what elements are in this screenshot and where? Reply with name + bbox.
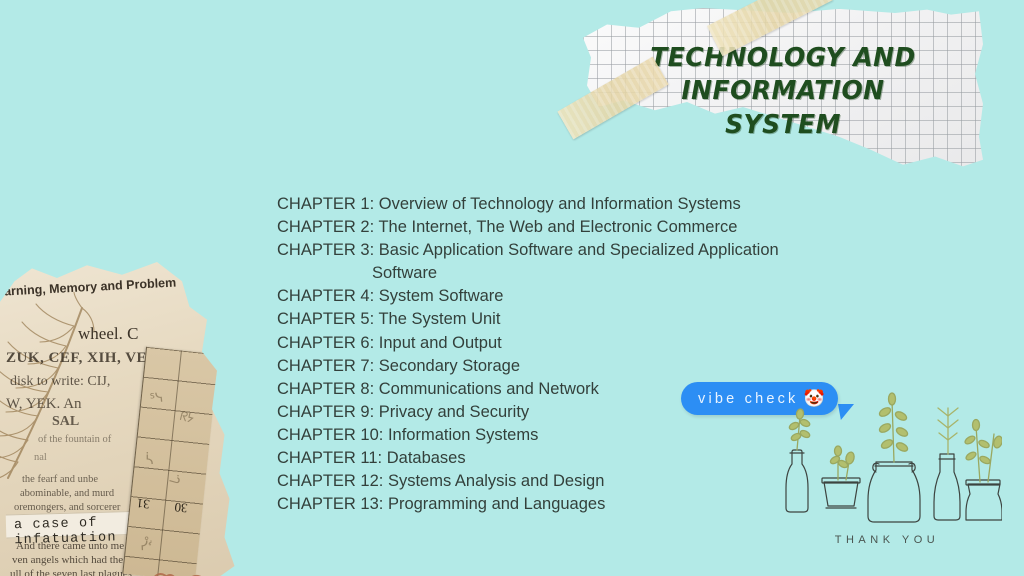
ledger-scribble: ᓵ [145, 452, 153, 468]
collage-line-angels: And there came unto me [16, 540, 124, 552]
chapter-list: CHAPTER 1: Overview of Technology and In… [277, 193, 837, 516]
collage-line-nal: nal [34, 452, 47, 463]
thank-you-caption: THANK YOU [772, 534, 1002, 546]
ledger-rules [123, 347, 218, 576]
collage-line-fear: the fearf and unbe [22, 474, 98, 485]
list-item: CHAPTER 13: Programming and Languages [277, 493, 837, 516]
collage-line-sal: SAL [52, 414, 79, 430]
collage-line-yek: W, YEK. An [6, 396, 82, 413]
ledger-number-31: 31 [136, 495, 151, 512]
floral-ornament-icon [110, 550, 220, 576]
ledger-calendar-card: 31 30 ᔆᓭ ᖇᔭ ᓵ ᓘ ᓮᔊ [122, 347, 218, 576]
sprig-2 [829, 446, 855, 480]
list-item: CHAPTER 5: The System Unit [277, 308, 837, 331]
sprig-1 [788, 409, 811, 450]
list-item: CHAPTER 10: Information Systems [277, 424, 837, 447]
ledger-scribble: ᔆᓭ [149, 390, 164, 407]
collage-line-cij: disk to write: CIJ, [10, 374, 110, 390]
list-item: CHAPTER 12: Systems Analysis and Design [277, 470, 837, 493]
list-item-continuation: Software [277, 262, 837, 285]
list-item: CHAPTER 3: Basic Application Software an… [277, 239, 837, 262]
list-item: CHAPTER 7: Secondary Storage [277, 355, 837, 378]
list-item: CHAPTER 6: Input and Output [277, 332, 837, 355]
sprig-5 [964, 420, 1002, 483]
collage-line-plagues: ven angels which had the [12, 554, 123, 566]
title-line-3: SYSTEM [591, 109, 975, 142]
collage-line-fountain: of the fountain of [38, 434, 111, 445]
collage-line-vep: ZUK, CEF, XIH, VEP, [6, 350, 160, 367]
list-item: CHAPTER 4: System Software [277, 285, 837, 308]
slide-canvas: TECHNOLOGY AND INFORMATION SYSTEM CHAPTE… [0, 0, 1024, 576]
list-item: CHAPTER 1: Overview of Technology and In… [277, 193, 837, 216]
plants-illustration [772, 390, 1002, 530]
vintage-paper-collage: arning, Memory and Problem wheel. C ZUK,… [0, 262, 242, 576]
ledger-number-30: 30 [174, 499, 189, 516]
sprig-4 [938, 408, 958, 454]
collage-line-wheel: wheel. C [78, 324, 138, 344]
list-item: CHAPTER 11: Databases [277, 447, 837, 470]
collage-line-abominable: abominable, and murd [20, 488, 114, 499]
sprig-3 [878, 393, 909, 462]
list-item: CHAPTER 2: The Internet, The Web and Ele… [277, 216, 837, 239]
